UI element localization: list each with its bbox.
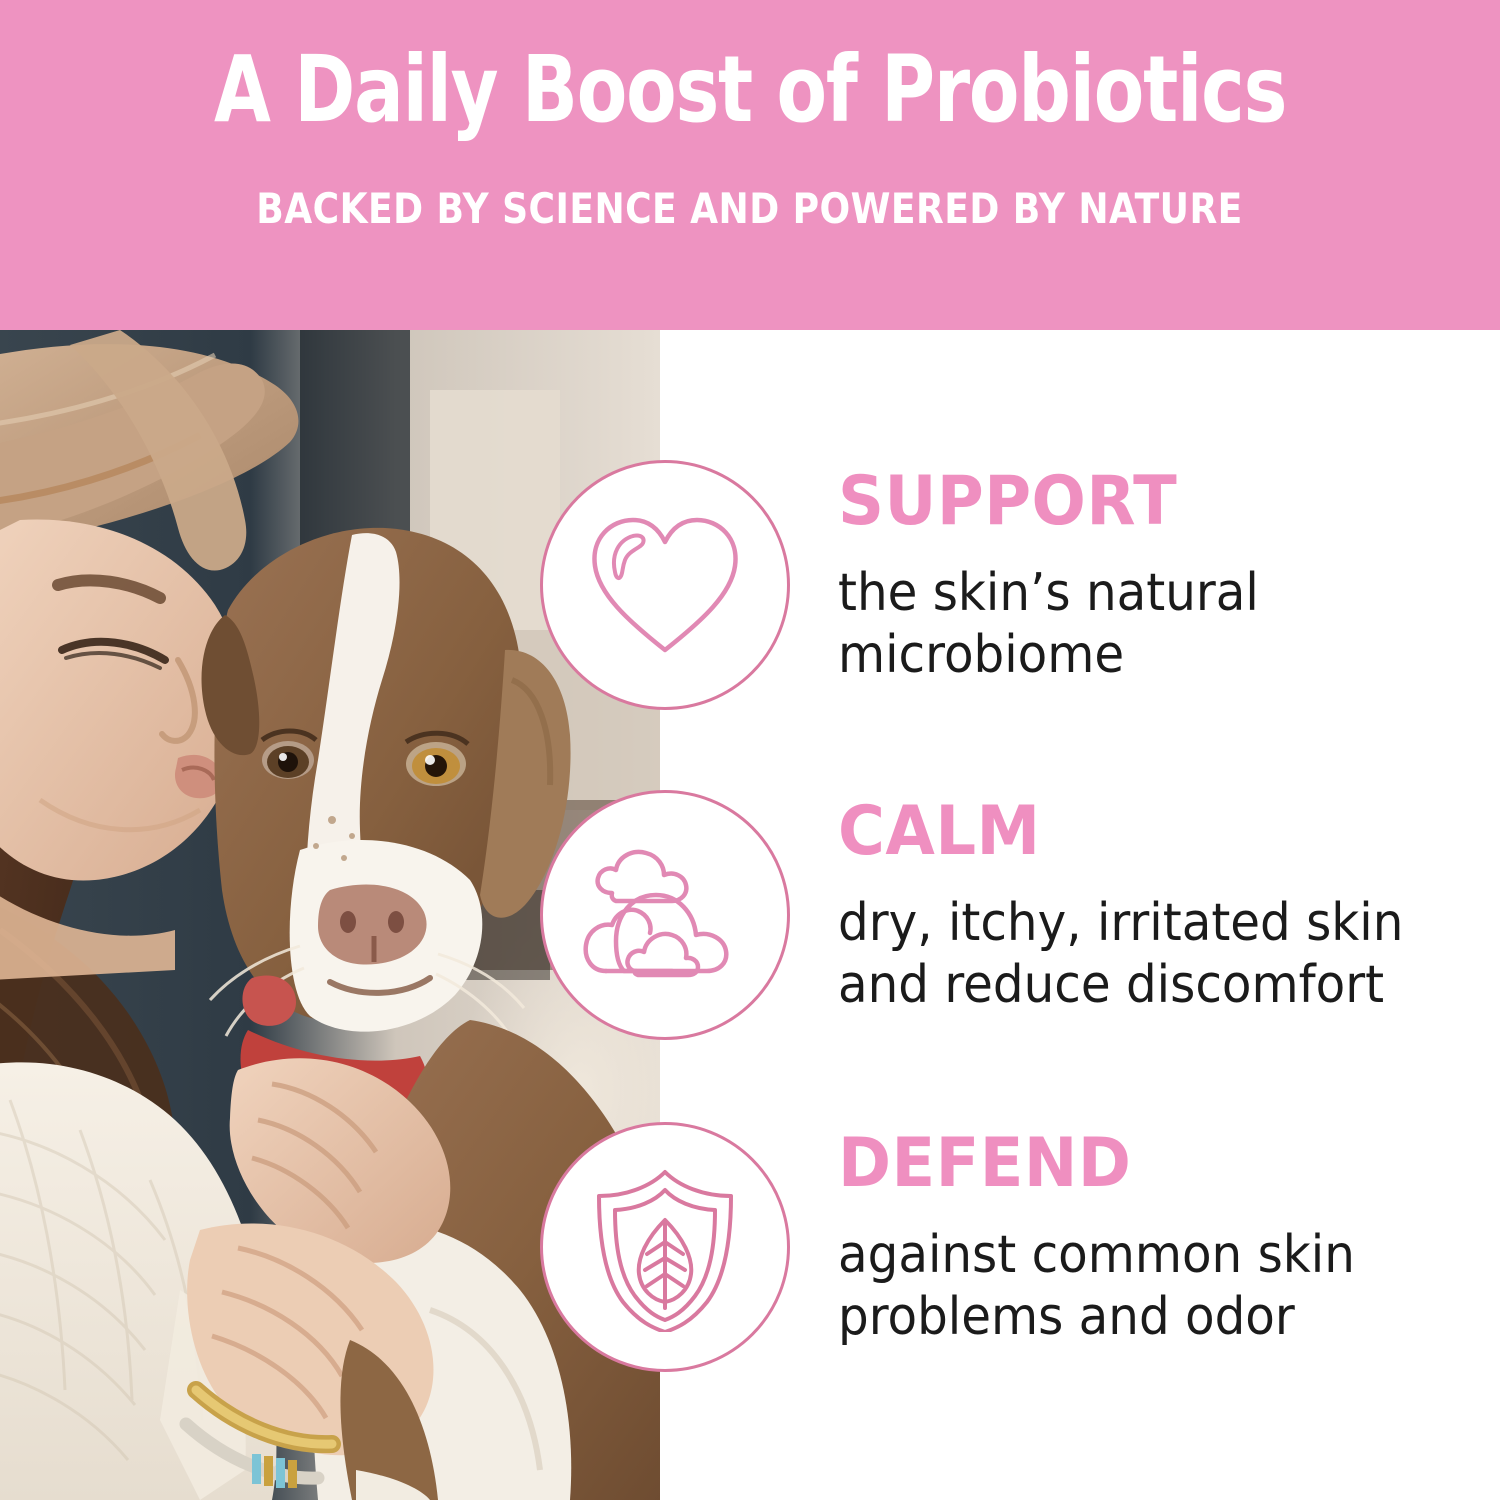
page-title: A Daily Boost of Probiotics [214,44,1286,136]
feature-calm-badge [540,790,790,1040]
feature-defend-text: DEFEND against common skin problems and … [838,1130,1478,1349]
feature-support-body: the skin’s natural microbiome [838,562,1433,687]
heart-icon [585,510,745,660]
feature-defend-heading: DEFEND [838,1130,1440,1198]
feature-calm-text: CALM dry, itchy, irritated skin and redu… [838,798,1478,1017]
feature-support-heading: SUPPORT [838,468,1440,536]
page-subtitle: BACKED BY SCIENCE AND POWERED BY NATURE [257,184,1244,233]
feature-defend-body: against common skin problems and odor [838,1224,1433,1349]
infographic-page: A Daily Boost of Probiotics BACKED BY SC… [0,0,1500,1500]
shield-leaf-icon [585,1162,745,1332]
header-banner: A Daily Boost of Probiotics BACKED BY SC… [0,0,1500,330]
feature-defend-badge [540,1122,790,1372]
feature-list: SUPPORT the skin’s natural microbiome [0,330,1500,1500]
clouds-icon [580,845,750,985]
feature-support-text: SUPPORT the skin’s natural microbiome [838,468,1478,687]
feature-support-badge [540,460,790,710]
feature-calm-body: dry, itchy, irritated skin and reduce di… [838,892,1433,1017]
feature-calm-heading: CALM [838,798,1440,866]
